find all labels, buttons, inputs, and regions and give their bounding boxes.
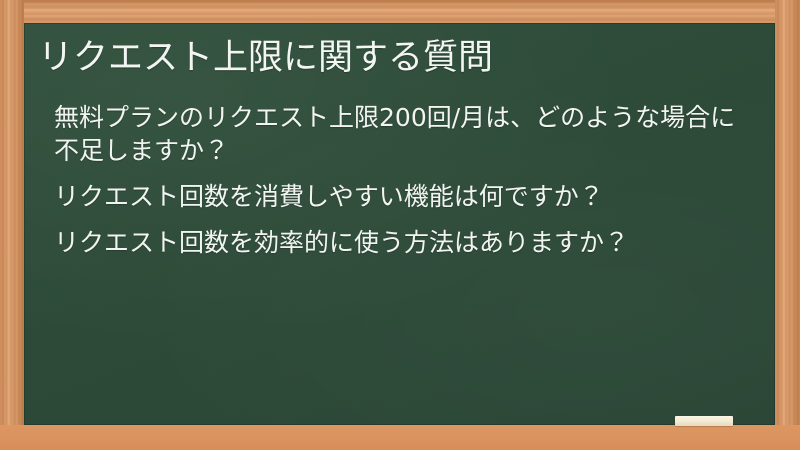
frame-left-rail	[0, 0, 24, 450]
frame-right-rail	[775, 0, 800, 450]
list-item: 無料プランのリクエスト上限200回/月は、どのような場合に不足しますか？	[54, 101, 754, 167]
frame-top-rail	[0, 0, 800, 23]
frame-bottom-ledge	[0, 425, 800, 450]
question-list: 無料プランのリクエスト上限200回/月は、どのような場合に不足しますか？ リクエ…	[54, 101, 754, 259]
page-title: リクエスト上限に関する質問	[38, 37, 758, 79]
chalkboard-surface: リクエスト上限に関する質問 無料プランのリクエスト上限200回/月は、どのような…	[24, 23, 775, 425]
list-item: リクエスト回数を消費しやすい機能は何ですか？	[54, 180, 754, 213]
chalk-stick-icon	[675, 416, 733, 426]
chalkboard-slide: リクエスト上限に関する質問 無料プランのリクエスト上限200回/月は、どのような…	[0, 0, 800, 450]
list-item: リクエスト回数を効率的に使う方法はありますか？	[54, 226, 754, 259]
